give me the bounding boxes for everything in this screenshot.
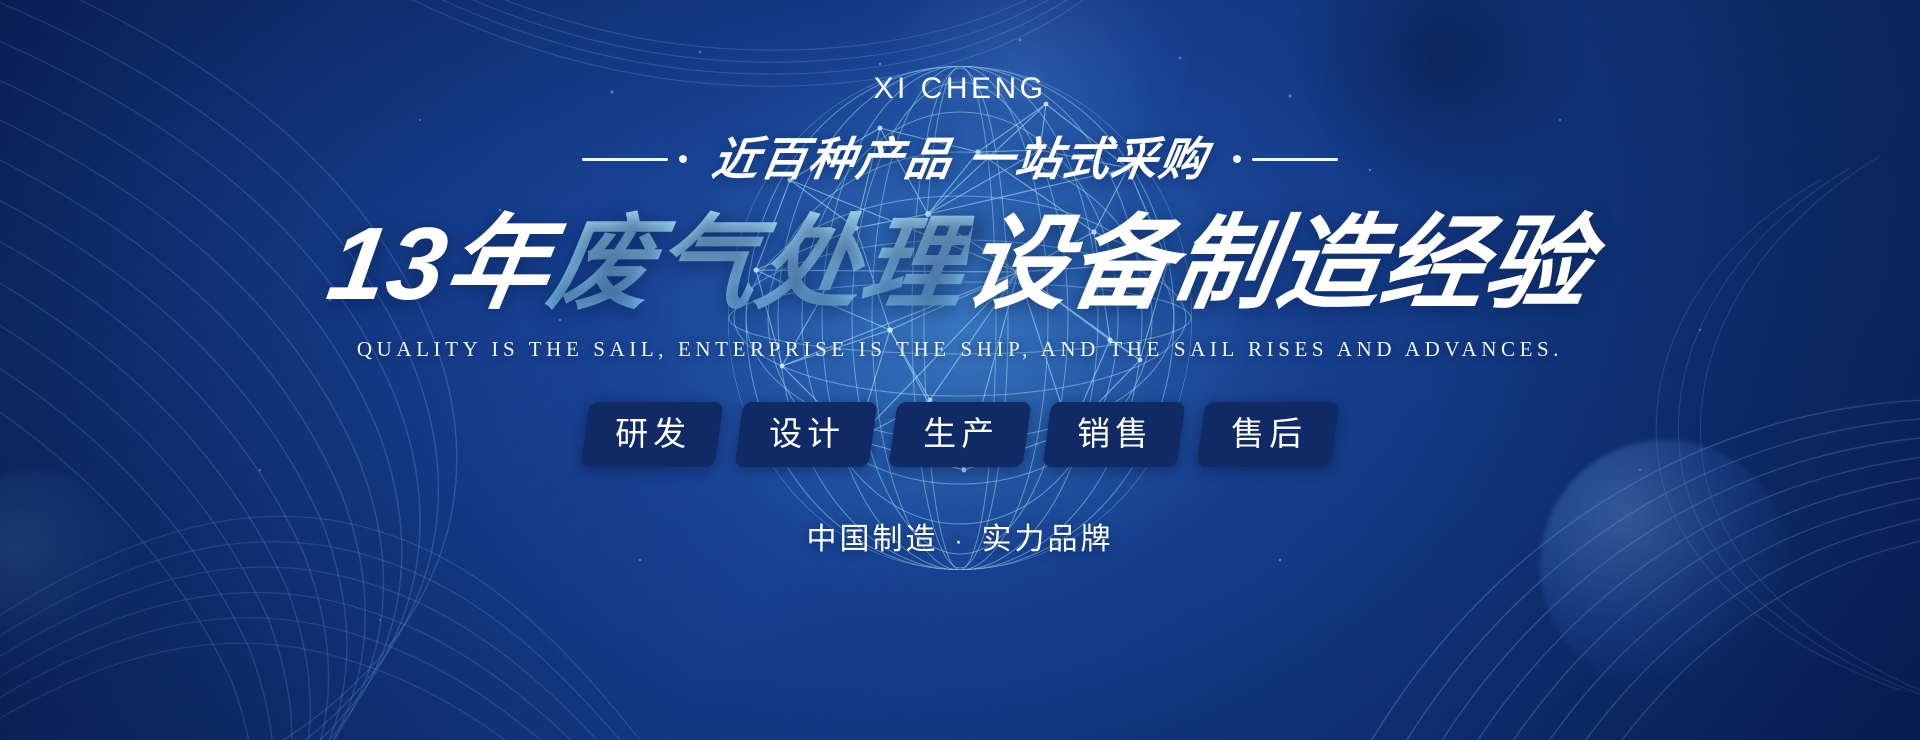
footer-text-right: 实力品牌 <box>982 523 1114 556</box>
deco-dot-left <box>679 155 687 163</box>
english-tagline: QUALITY IS THE SAIL, ENTERPRISE IS THE S… <box>357 337 1563 362</box>
footer-text-left: 中国制造 <box>807 523 939 556</box>
badge-design[interactable]: 设计 <box>734 402 877 467</box>
badge-production[interactable]: 生产 <box>888 402 1031 467</box>
badge-after-sales[interactable]: 售后 <box>1196 402 1339 467</box>
deco-line-left <box>582 158 668 161</box>
badge-label: 研发 <box>615 413 691 454</box>
hero-banner: XI CHENG 近百种产品 一站式采购 13年废气处理设备制造经验 QUALI… <box>0 0 1920 740</box>
banner-headline: 13年废气处理设备制造经验 <box>321 208 1599 319</box>
service-badge-list: 研发 设计 生产 销售 售后 <box>585 402 1335 467</box>
deco-dot-right <box>1233 155 1241 163</box>
headline-part-years: 13年 <box>321 206 560 321</box>
badge-rd[interactable]: 研发 <box>580 402 723 467</box>
subtitle-row: 近百种产品 一站式采购 <box>582 136 1339 182</box>
headline-part-highlight: 废气处理 <box>541 206 975 321</box>
badge-label: 设计 <box>769 413 845 454</box>
badge-sales[interactable]: 销售 <box>1042 402 1185 467</box>
footer-separator: · <box>955 528 966 555</box>
badge-label: 售后 <box>1231 413 1307 454</box>
banner-footer-line: 中国制造·实力品牌 <box>807 514 1114 558</box>
headline-part-tail: 设备制造经验 <box>957 206 1599 321</box>
decorative-rule-right <box>1233 155 1338 163</box>
badge-label: 生产 <box>923 413 999 454</box>
brand-latin-name: XI CHENG <box>873 74 1046 104</box>
banner-content: XI CHENG 近百种产品 一站式采购 13年废气处理设备制造经验 QUALI… <box>0 0 1920 740</box>
badge-label: 销售 <box>1077 413 1153 454</box>
decorative-rule-left <box>582 155 687 163</box>
deco-line-right <box>1252 158 1338 161</box>
banner-subtitle: 近百种产品 一站式采购 <box>709 136 1211 182</box>
